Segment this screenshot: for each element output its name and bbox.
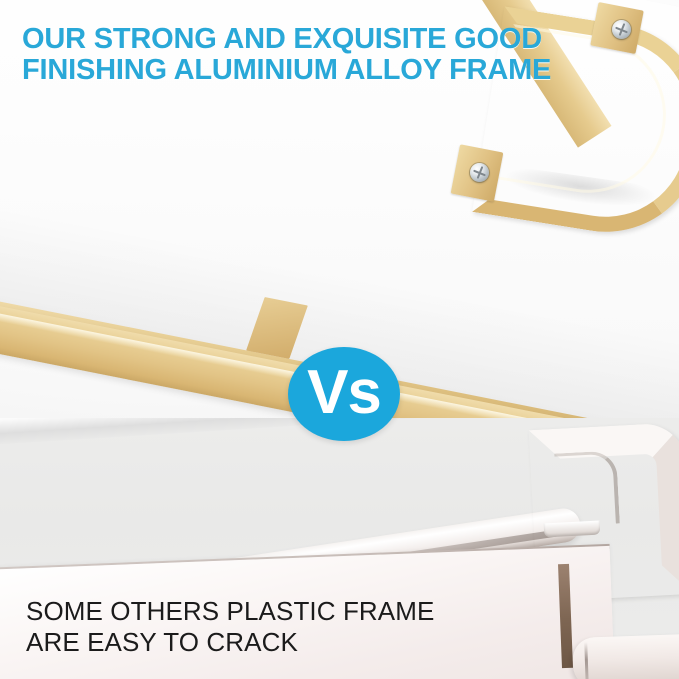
comparison-infographic: OUR STRONG AND EXQUISITE GOOD FINISHING … [0,0,679,679]
versus-badge: Vs [288,347,400,441]
plastic-corner-inner-shadow [554,450,620,526]
screw-icon [470,163,489,182]
bottom-caption: SOME OTHERS PLASTIC FRAME ARE EASY TO CR… [26,596,586,658]
versus-badge-label: Vs [307,362,381,424]
top-headline: OUR STRONG AND EXQUISITE GOOD FINISHING … [22,24,582,86]
screw-icon [612,20,631,39]
plastic-corner-open-lip [544,521,601,538]
